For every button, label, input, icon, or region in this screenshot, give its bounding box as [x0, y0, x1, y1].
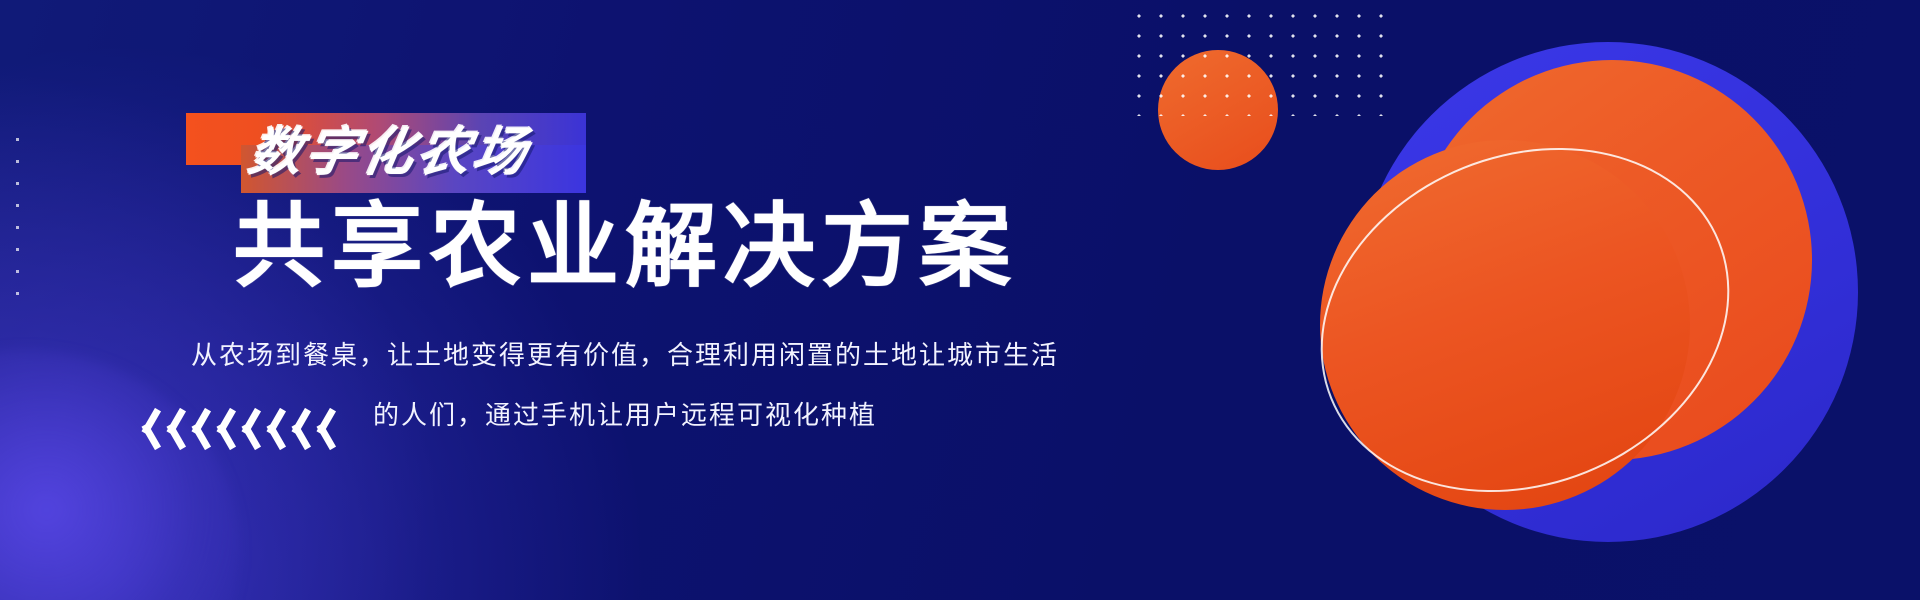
chevron-left-icon: [182, 406, 204, 452]
chevron-decoration: [132, 406, 329, 452]
badge-label: 数字化农场: [245, 127, 534, 179]
page-title: 共享农业解决方案: [0, 198, 1250, 297]
badge: 数字化农场: [186, 113, 586, 193]
chevron-left-icon: [132, 406, 154, 452]
chevron-left-icon: [207, 406, 229, 452]
chevron-left-icon: [257, 406, 279, 452]
banner-content: 数字化农场 共享农业解决方案 从农场到餐桌，让土地变得更有价值，合理利用闲置的土…: [0, 0, 1250, 600]
subtitle-line-1: 从农场到餐桌，让土地变得更有价值，合理利用闲置的土地让城市生活: [0, 325, 1250, 385]
chevron-left-icon: [307, 406, 329, 452]
chevron-left-icon: [157, 406, 179, 452]
hero-banner: 数字化农场 共享农业解决方案 从农场到餐桌，让土地变得更有价值，合理利用闲置的土…: [0, 0, 1920, 600]
chevron-left-icon: [232, 406, 254, 452]
chevron-left-icon: [282, 406, 304, 452]
